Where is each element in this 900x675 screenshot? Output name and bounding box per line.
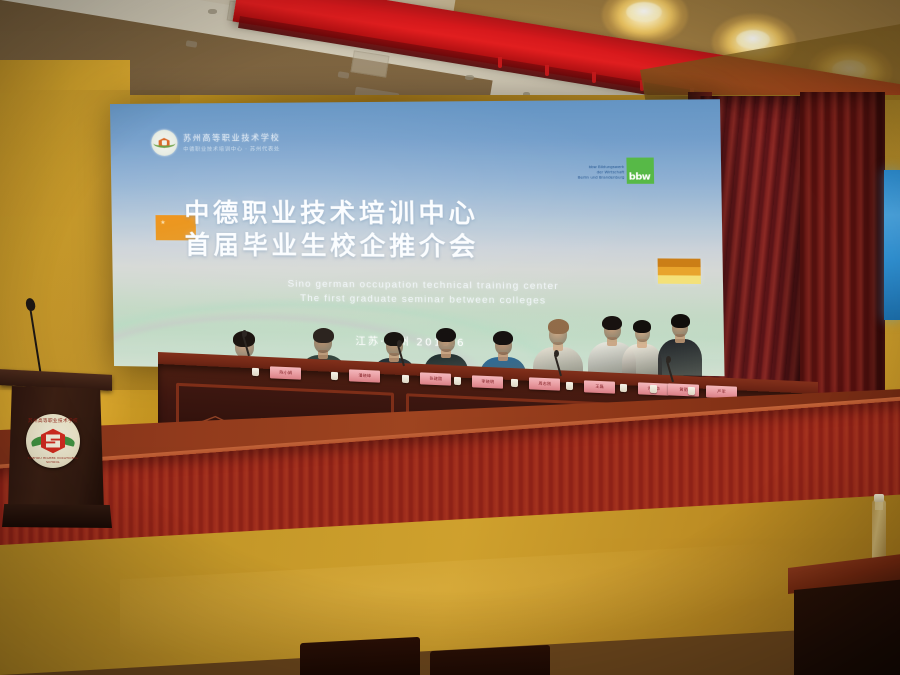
- panel-name-card: 王磊: [584, 380, 615, 393]
- slide-title-line1: 中德职业技术培训中心: [184, 197, 674, 231]
- water-cup-icon: [566, 382, 573, 390]
- china-flag-star: ★: [160, 219, 166, 226]
- water-cup-icon: [511, 379, 518, 387]
- bbw-logo-icon: bbw Bildungswerk der Wirtschaft Berlin u…: [577, 158, 654, 184]
- panel-member-hair: [671, 314, 690, 328]
- panel-member-hair: [436, 328, 456, 342]
- bbw-wordmark: bbw: [629, 172, 651, 183]
- bottle-cap: [874, 494, 884, 502]
- microphone-head-icon: [242, 330, 247, 337]
- school-crest-icon: 苏州高等职业技术学校 SUZHOU HIGHER VOCATIONAL SCHO…: [26, 414, 80, 468]
- panel-member-hair: [548, 319, 569, 334]
- slide-org-name-cn: 苏州高等职业技术学校: [183, 132, 281, 144]
- audience-chair-back: [430, 645, 550, 675]
- ceiling-fixture: [465, 75, 474, 80]
- valance-hook: [498, 57, 502, 68]
- panel-name-card-text: 黄丽: [679, 387, 687, 393]
- slide-org-logo: 苏州高等职业技术学校 中德职业技术培训中心 · 苏州代表处: [151, 129, 281, 156]
- conference-hall-photo: 苏州高等职业技术学校 中德职业技术培训中心 · 苏州代表处 bbw Bildun…: [0, 0, 900, 675]
- crest-s-mark-icon: [46, 435, 60, 448]
- water-cup-icon: [252, 368, 259, 376]
- podium-base: [2, 504, 112, 528]
- blue-light-strip: [884, 170, 900, 320]
- panel-name-card: 陈小娟: [270, 366, 301, 379]
- panel-member-hair: [493, 331, 513, 345]
- foreground-table: [788, 560, 900, 675]
- slide-org-name-sub: 中德职业技术培训中心 · 苏州代表处: [183, 146, 280, 153]
- panel-name-card-text: 周志刚: [538, 381, 551, 387]
- panel-member-hair: [602, 316, 622, 330]
- water-cup-icon: [688, 387, 695, 395]
- speaker-podium: 苏州高等职业技术学校 SUZHOU HIGHER VOCATIONAL SCHO…: [2, 372, 110, 532]
- panel-name-card-text: 潘晓峰: [358, 373, 371, 379]
- water-cup-icon: [402, 375, 409, 383]
- panel-member-hair: [633, 320, 651, 333]
- panel-name-card-text: 王磊: [595, 384, 603, 390]
- water-cup-icon: [454, 377, 461, 385]
- emblem-leaf-icon: [153, 139, 175, 148]
- slide-org-logo-text: 苏州高等职业技术学校 中德职业技术培训中心 · 苏州代表处: [183, 132, 281, 153]
- water-cup-icon: [650, 385, 657, 393]
- microphone-head-icon: [666, 356, 671, 363]
- slide-title-line2: 首届毕业生校企推介会: [185, 229, 675, 265]
- microphone-head-icon: [397, 340, 402, 347]
- panel-name-card: 李晓明: [472, 375, 503, 388]
- valance-hook: [592, 72, 596, 83]
- school-emblem-icon: [151, 130, 177, 156]
- panel-name-card-text: 陈小娟: [279, 370, 292, 376]
- panel-name-card: 潘晓峰: [349, 370, 380, 383]
- podium-crest-cn: 苏州高等职业技术学校: [26, 418, 80, 424]
- valance-hook: [545, 65, 549, 76]
- panel-name-card: 周志刚: [529, 377, 560, 390]
- ceiling-fixture: [208, 9, 217, 14]
- bbw-line3: Berlin und Brandenburg: [578, 176, 625, 181]
- foreground-table-front: [794, 578, 900, 675]
- ceiling-spotlight-core: [736, 30, 770, 49]
- panel-name-card-text: 严军: [717, 389, 725, 395]
- ceiling-spotlight-core: [626, 2, 662, 22]
- panel-name-card-text: 李晓明: [481, 379, 494, 385]
- audience-chair-back: [300, 637, 420, 675]
- bbw-green-square: bbw: [626, 158, 654, 184]
- panel-name-card: 张建国: [420, 373, 451, 386]
- water-cup-icon: [331, 371, 338, 379]
- bbw-logo-subtext: bbw Bildungswerk der Wirtschaft Berlin u…: [578, 165, 625, 183]
- panel-member-hair: [313, 328, 334, 343]
- slide-subtitle-block: Sino german occupation technical trainin…: [206, 276, 647, 311]
- water-cup-icon: [620, 384, 627, 392]
- panel-name-card-text: 张建国: [429, 376, 442, 382]
- podium-crest-en: SUZHOU HIGHER VOCATIONAL SCHOOL: [26, 456, 80, 464]
- slide-title-block: 中德职业技术培训中心 首届毕业生校企推介会: [184, 197, 674, 265]
- microphone-head-icon: [554, 350, 559, 357]
